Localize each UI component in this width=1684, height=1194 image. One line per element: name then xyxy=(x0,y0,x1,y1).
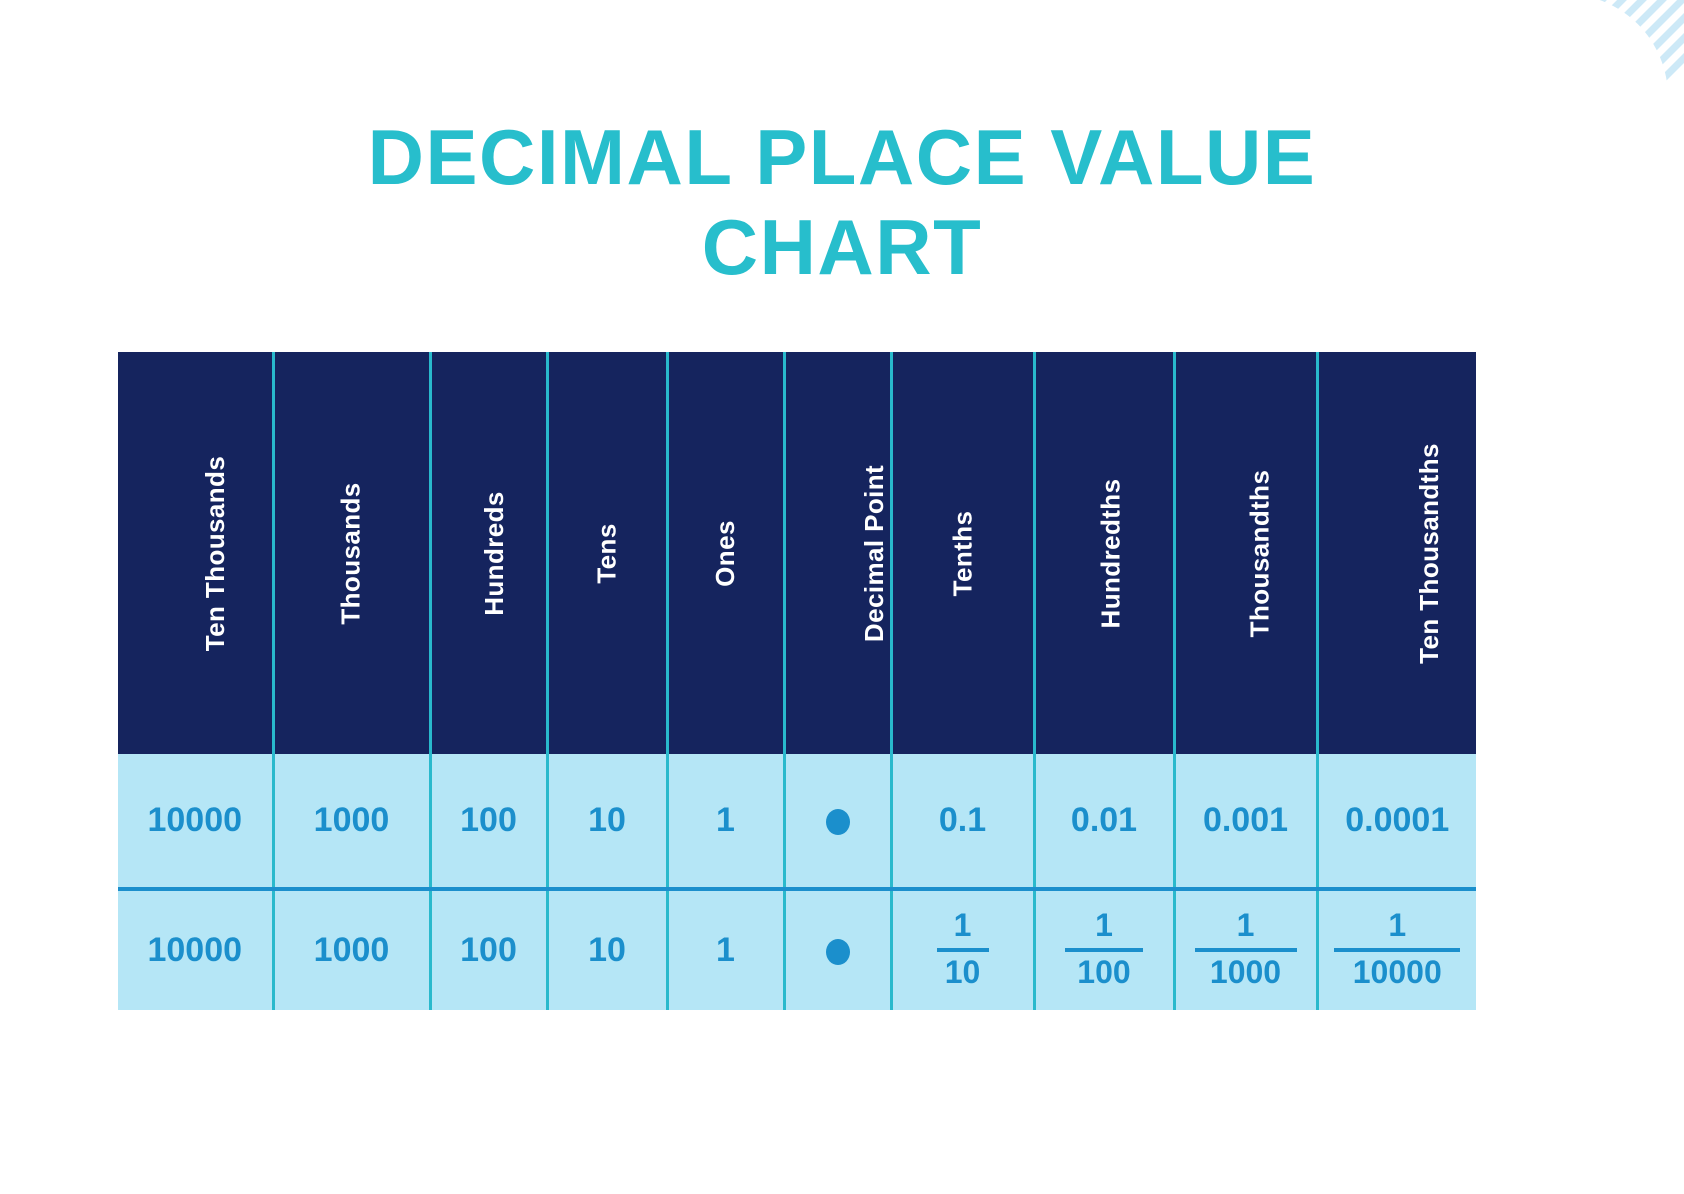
value-cell-thousands: 1000 xyxy=(273,754,430,889)
fraction-cell-ten-thousands: 10000 xyxy=(118,889,273,1010)
decimal-place-value-chart-page: DECIMAL PLACE VALUE CHART Ten Thousands … xyxy=(0,0,1684,1194)
header-cell-tenths: Tenths xyxy=(891,352,1034,754)
value-cell-ten-thousands: 10000 xyxy=(118,754,273,889)
value-cell-ten-thousandths: 0.0001 xyxy=(1317,754,1476,889)
table-header-row: Ten Thousands Thousands Hundreds Tens On… xyxy=(118,352,1476,754)
fraction-cell-hundredths: 1 100 xyxy=(1034,889,1174,1010)
header-cell-ten-thousandths: Ten Thousandths xyxy=(1317,352,1476,754)
value-cell-tens: 10 xyxy=(547,754,667,889)
fraction-one-hundredth: 1 100 xyxy=(1065,909,1143,989)
fraction-cell-tens: 10 xyxy=(547,889,667,1010)
fraction-denominator: 100 xyxy=(1065,956,1143,990)
decimal-point-icon xyxy=(826,809,850,835)
header-label-thousandths: Thousandths xyxy=(1244,469,1275,637)
header-label-thousands: Thousands xyxy=(336,482,367,624)
fraction-denominator: 1000 xyxy=(1195,956,1297,990)
header-label-ten-thousands: Ten Thousands xyxy=(200,455,231,650)
fraction-one-tenth: 1 10 xyxy=(937,909,989,989)
fraction-cell-tenths: 1 10 xyxy=(891,889,1034,1010)
decimal-point-icon xyxy=(826,939,850,965)
fraction-cell-thousands: 1000 xyxy=(273,889,430,1010)
header-cell-hundredths: Hundredths xyxy=(1034,352,1174,754)
fraction-cell-ten-thousandths: 1 10000 xyxy=(1317,889,1476,1010)
fraction-denominator: 10 xyxy=(937,956,989,990)
header-label-tenths: Tenths xyxy=(947,510,978,596)
fraction-cell-ones: 1 xyxy=(667,889,784,1010)
fraction-one-thousandth: 1 1000 xyxy=(1195,909,1297,989)
fraction-value-row: 10000 1000 100 10 1 1 10 1 100 xyxy=(118,889,1476,1010)
header-cell-hundreds: Hundreds xyxy=(430,352,547,754)
header-label-decimal-point: Decimal Point xyxy=(859,464,890,641)
fraction-cell-decimal-point xyxy=(784,889,891,1010)
page-title-container: DECIMAL PLACE VALUE CHART xyxy=(0,112,1684,293)
value-cell-hundredths: 0.01 xyxy=(1034,754,1174,889)
value-cell-ones: 1 xyxy=(667,754,784,889)
header-cell-thousandths: Thousandths xyxy=(1174,352,1317,754)
fraction-numerator: 1 xyxy=(1195,909,1297,946)
fraction-bar xyxy=(1334,948,1460,952)
fraction-numerator: 1 xyxy=(1334,909,1460,946)
fraction-bar xyxy=(937,948,989,952)
value-cell-thousandths: 0.001 xyxy=(1174,754,1317,889)
header-cell-thousands: Thousands xyxy=(273,352,430,754)
header-cell-tens: Tens xyxy=(547,352,667,754)
decimal-value-row: 10000 1000 100 10 1 0.1 0.01 0.001 0.000… xyxy=(118,754,1476,889)
fraction-cell-thousandths: 1 1000 xyxy=(1174,889,1317,1010)
header-label-ten-thousandths: Ten Thousandths xyxy=(1413,443,1444,664)
place-value-table: Ten Thousands Thousands Hundreds Tens On… xyxy=(118,352,1476,1010)
header-label-tens: Tens xyxy=(591,523,622,583)
fraction-bar xyxy=(1065,948,1143,952)
value-cell-decimal-point xyxy=(784,754,891,889)
header-cell-ones: Ones xyxy=(667,352,784,754)
header-label-hundreds: Hundreds xyxy=(478,491,509,616)
fraction-one-ten-thousandth: 1 10000 xyxy=(1334,909,1460,989)
fraction-bar xyxy=(1195,948,1297,952)
fraction-denominator: 10000 xyxy=(1334,956,1460,990)
value-cell-hundreds: 100 xyxy=(430,754,547,889)
fraction-numerator: 1 xyxy=(1065,909,1143,946)
page-title: DECIMAL PLACE VALUE CHART xyxy=(312,112,1372,293)
header-cell-ten-thousands: Ten Thousands xyxy=(118,352,273,754)
header-label-hundredths: Hundredths xyxy=(1095,478,1126,628)
fraction-cell-hundreds: 100 xyxy=(430,889,547,1010)
value-cell-tenths: 0.1 xyxy=(891,754,1034,889)
header-label-ones: Ones xyxy=(710,520,741,587)
fraction-numerator: 1 xyxy=(937,909,989,946)
header-cell-decimal-point: Decimal Point xyxy=(784,352,891,754)
